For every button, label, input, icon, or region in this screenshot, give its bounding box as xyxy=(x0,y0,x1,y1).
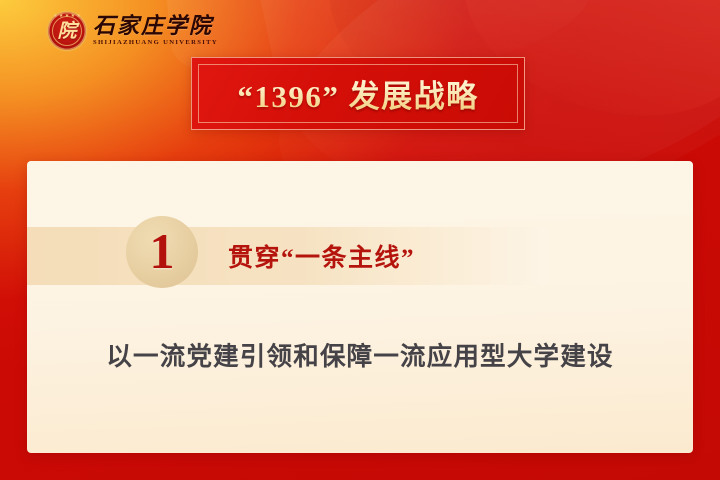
logo-name-cn: 石家庄学院 xyxy=(93,15,218,37)
card-body-text: 以一流党建引领和保障一流应用型大学建设 xyxy=(27,336,693,373)
page-title: “1396” 发展战略 xyxy=(192,58,524,129)
number-badge: 1 xyxy=(126,216,198,288)
logo-wordmark: 石家庄学院 SHIJIAZHUANG UNIVERSITY xyxy=(93,15,218,47)
banner-heading: 贯穿“一条主线” xyxy=(228,228,415,284)
title-plaque: “1396” 发展战略 xyxy=(191,57,525,130)
university-logo: ★ ★ ★ ★ ★ 院 石家庄学院 SHIJIAZHUANG UNIVERSIT… xyxy=(48,12,218,50)
logo-name-en: SHIJIAZHUANG UNIVERSITY xyxy=(93,40,218,47)
number-badge-value: 1 xyxy=(150,226,175,276)
content-card: 以一流党建引领和保障一流应用型大学建设 xyxy=(27,161,693,453)
seal-glyph: 院 xyxy=(48,12,86,50)
university-seal-icon: ★ ★ ★ ★ ★ 院 xyxy=(48,12,86,50)
